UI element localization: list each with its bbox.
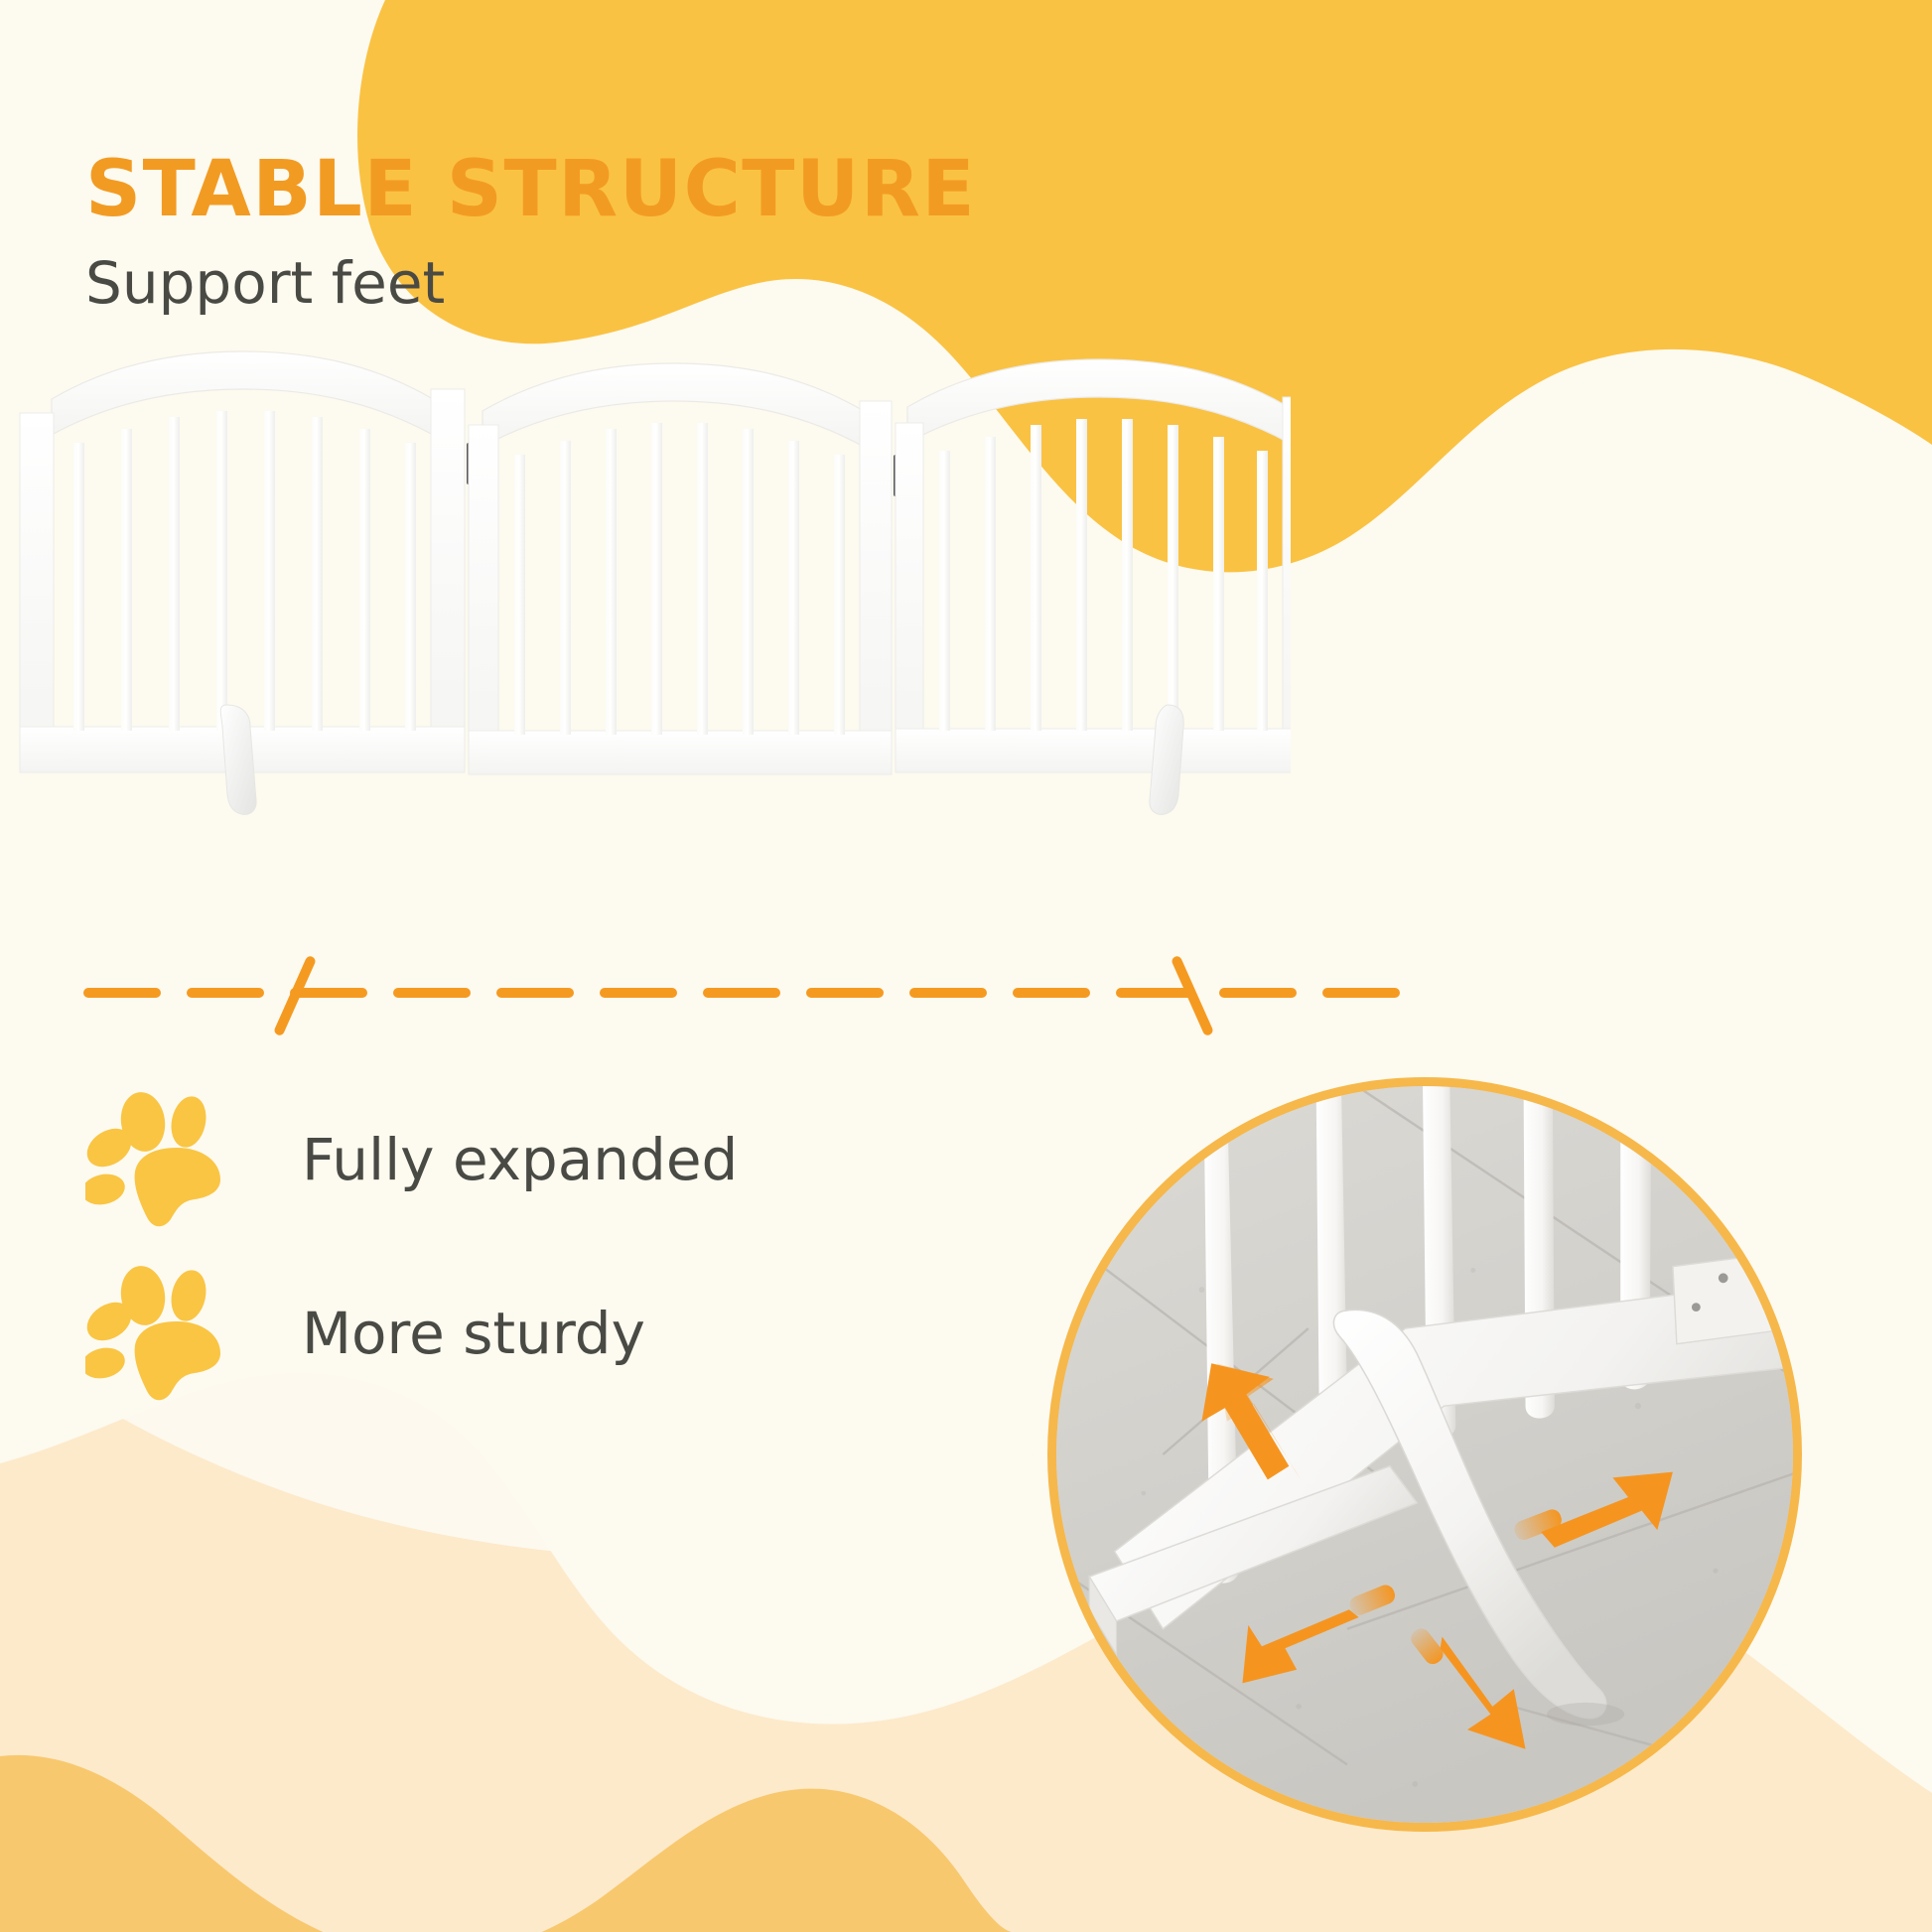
panel-2-left-stile [469, 425, 498, 774]
list-item: More sturdy [85, 1246, 738, 1420]
product-gate-illustration [0, 347, 1291, 864]
gate-panel-2 [469, 363, 892, 774]
list-item: Fully expanded [85, 1072, 738, 1246]
support-foot-closeup-inset [1047, 1077, 1802, 1832]
gate-panel-3 [896, 359, 1291, 772]
header-block: STABLE STRUCTURE Support feet [85, 151, 976, 312]
page-subtitle: Support feet [85, 254, 976, 312]
paw-print-icon [85, 1090, 234, 1229]
feature-list: Fully expanded More sturdy [85, 1072, 738, 1420]
feature-label: Fully expanded [302, 1131, 738, 1188]
panel-1-left-stile [20, 413, 54, 772]
panel-1-top-rail [52, 351, 433, 435]
page-title: STABLE STRUCTURE [85, 151, 976, 228]
closeup-illustration [1056, 1086, 1793, 1823]
closeup-right-frame [1673, 1251, 1793, 1344]
ground-dashed-line [83, 988, 1444, 998]
panel-1-right-stile [431, 389, 465, 772]
paw-print-icon [85, 1264, 234, 1403]
bottom-wave-gold-shape [0, 1755, 1013, 1932]
support-foot-right [1150, 705, 1183, 814]
panel-2-bottom-rail [469, 731, 892, 774]
panel-1-bars [73, 411, 416, 731]
panel-3-left-stile [896, 423, 923, 772]
support-foot-left [220, 705, 256, 814]
panel-3-bars [939, 419, 1268, 731]
panel-2-right-stile [860, 401, 892, 774]
panel-3-top-rail [907, 359, 1289, 443]
panel-2-bars [514, 423, 845, 735]
feature-label: More sturdy [302, 1305, 645, 1362]
panel-3-bottom-rail [896, 729, 1291, 772]
infographic-poster: STABLE STRUCTURE Support feet [0, 0, 1932, 1932]
panel-3-right-stile [1283, 397, 1291, 772]
foot-tip-shadow [1547, 1703, 1624, 1725]
panel-2-top-rail [483, 363, 864, 447]
